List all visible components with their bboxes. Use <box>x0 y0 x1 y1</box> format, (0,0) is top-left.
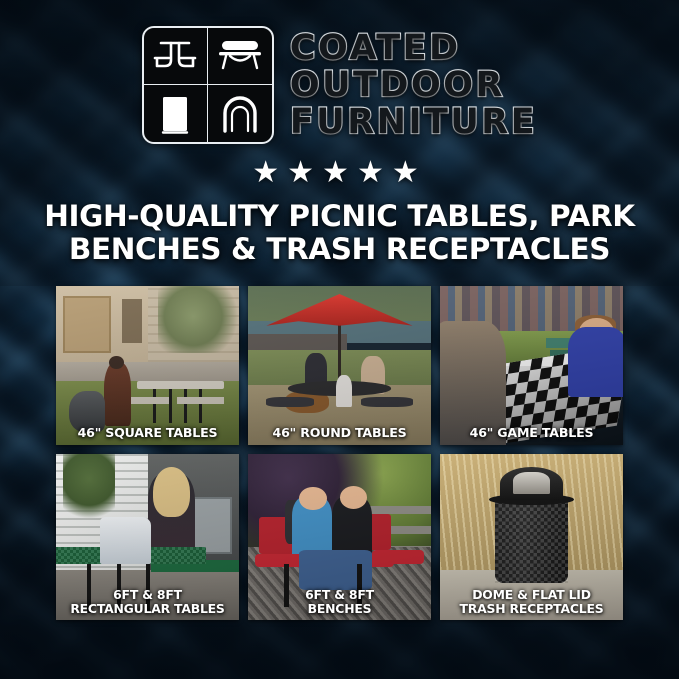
bike-rack-arch-icon <box>208 85 272 142</box>
product-photo-round-tables <box>248 286 431 445</box>
picnic-table-icon <box>144 28 208 85</box>
brand-word-coated: COATED <box>290 31 537 67</box>
star-icon-5: ★ <box>392 158 427 188</box>
star-icon-2: ★ <box>287 158 322 188</box>
product-photo-square-tables <box>56 286 239 445</box>
product-caption-game-tables: 46" GAME TABLES <box>444 426 619 440</box>
product-caption-square-tables: 46" SQUARE TABLES <box>60 426 235 440</box>
brand-word-furniture: FURNITURE <box>290 105 537 141</box>
product-tile-benches[interactable]: 6FT & 8FT BENCHES <box>248 454 431 620</box>
product-tile-square-tables[interactable]: 46" SQUARE TABLES <box>56 286 239 445</box>
product-caption-benches: 6FT & 8FT BENCHES <box>252 588 427 615</box>
brand-wordmark: COATED OUTDOOR FURNITURE <box>290 29 537 140</box>
product-photo-game-tables <box>440 286 623 445</box>
brand-word-outdoor: OUTDOOR <box>290 68 537 104</box>
poster-content: COATED OUTDOOR FURNITURE ★★★★★ HIGH-QUAL… <box>0 0 679 679</box>
park-bench-icon <box>208 28 272 85</box>
star-icon-3: ★ <box>322 158 357 188</box>
product-grid: 46" SQUARE TABLES <box>56 286 623 620</box>
product-poster: COATED OUTDOOR FURNITURE ★★★★★ HIGH-QUAL… <box>0 0 679 679</box>
product-caption-rectangular-tables: 6FT & 8FT RECTANGULAR TABLES <box>60 588 235 615</box>
headline-line-1: HIGH-QUALITY PICNIC TABLES, PARK <box>44 199 634 233</box>
brand-logo: COATED OUTDOOR FURNITURE <box>0 26 679 144</box>
star-icon-1: ★ <box>252 158 287 188</box>
product-tile-trash-receptacles[interactable]: DOME & FLAT LID TRASH RECEPTACLES <box>440 454 623 620</box>
product-caption-round-tables: 46" ROUND TABLES <box>252 426 427 440</box>
product-caption-trash-receptacles: DOME & FLAT LID TRASH RECEPTACLES <box>444 588 619 615</box>
product-tile-game-tables[interactable]: 46" GAME TABLES <box>440 286 623 445</box>
star-rating: ★★★★★ <box>0 158 679 188</box>
headline-line-2: BENCHES & TRASH RECEPTACLES <box>24 233 655 266</box>
product-tile-rectangular-tables[interactable]: 6FT & 8FT RECTANGULAR TABLES <box>56 454 239 620</box>
headline: HIGH-QUALITY PICNIC TABLES, PARK BENCHES… <box>24 200 655 267</box>
logo-icon-grid <box>142 26 274 144</box>
trash-receptacle-icon <box>144 85 208 142</box>
product-tile-round-tables[interactable]: 46" ROUND TABLES <box>248 286 431 445</box>
star-icon-4: ★ <box>357 158 392 188</box>
